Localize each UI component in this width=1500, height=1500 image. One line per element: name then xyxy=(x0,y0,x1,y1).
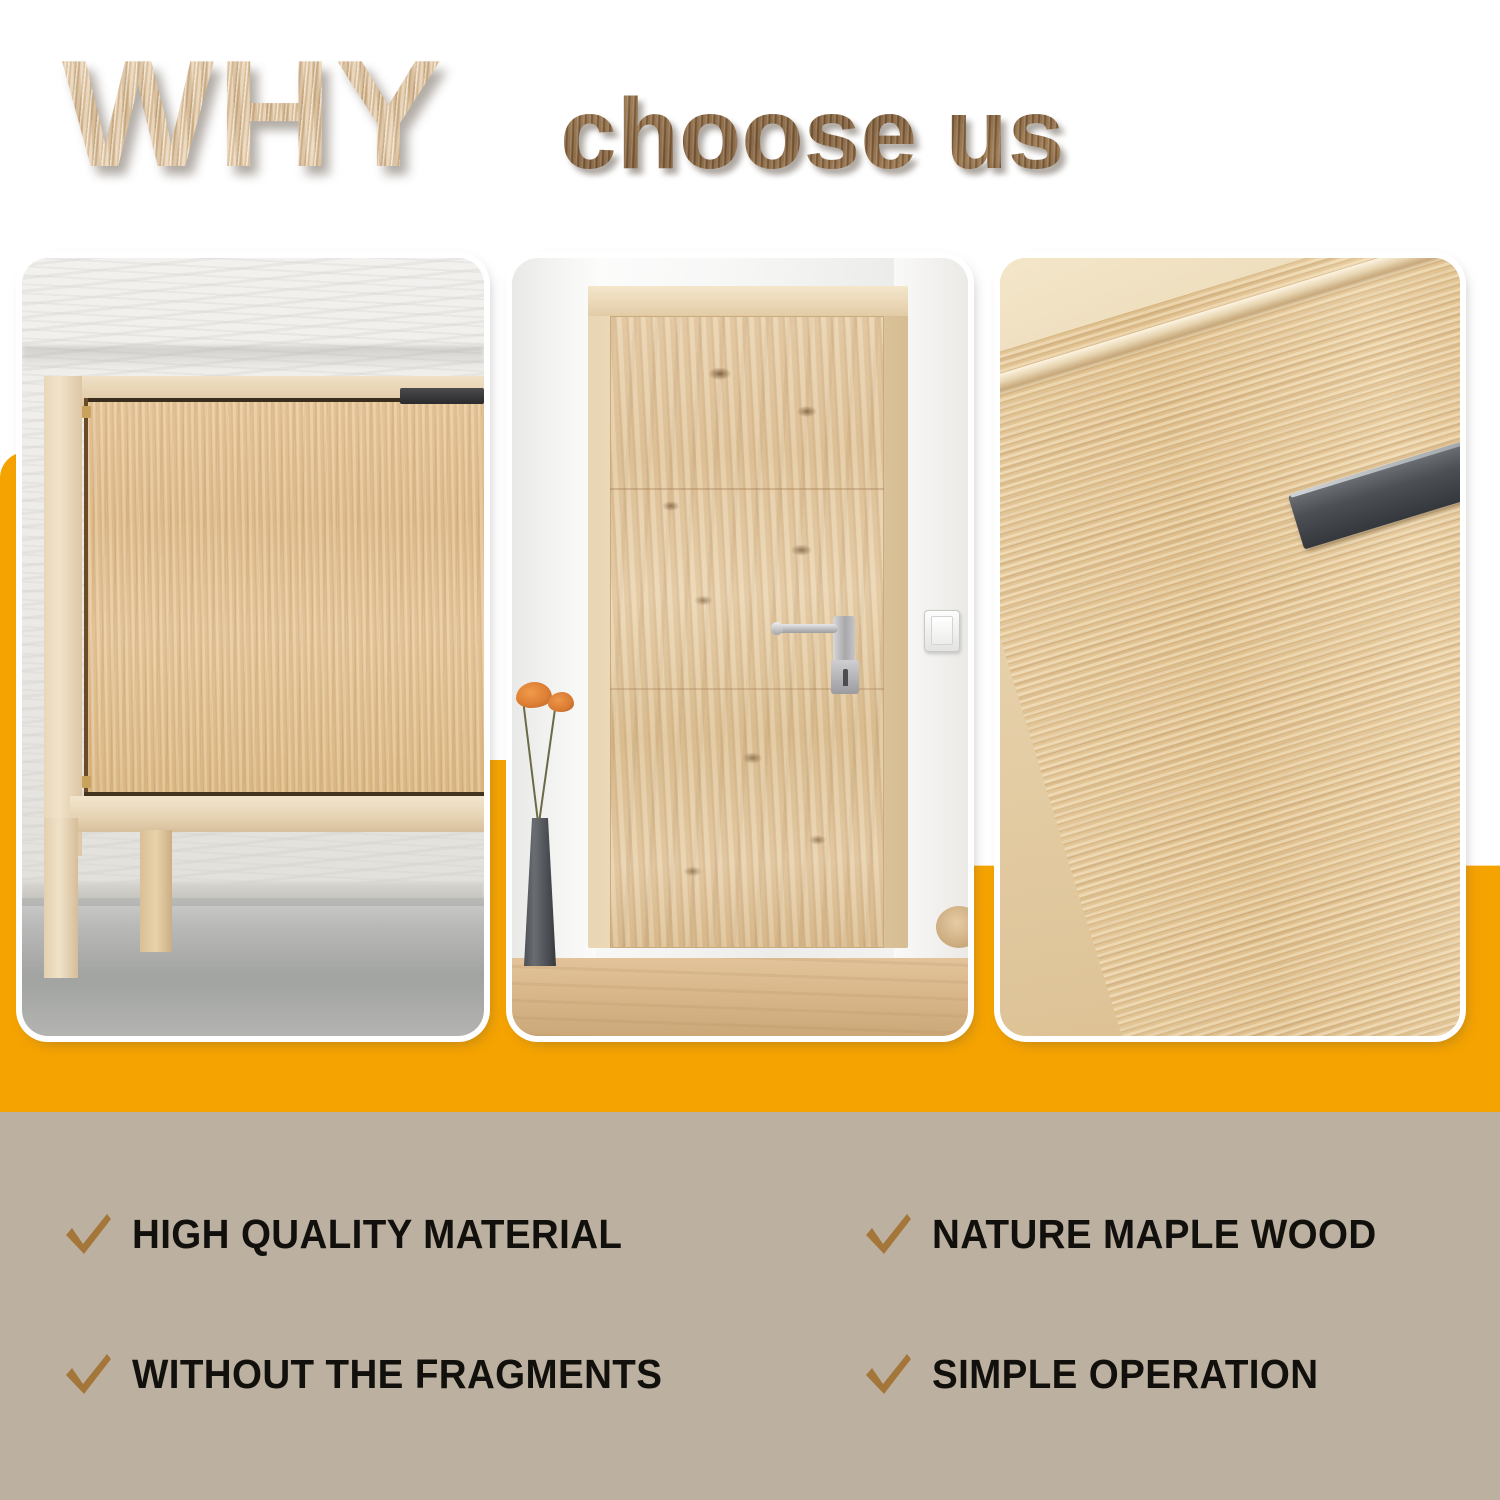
photo-panel-oak-sideboard-cabinet[interactable] xyxy=(22,258,484,1036)
photo-content xyxy=(22,258,484,1036)
photo-gallery xyxy=(0,258,1500,1036)
door-keyhole-slot xyxy=(843,669,848,686)
feature-label: NATURE MAPLE WOOD xyxy=(932,1212,1377,1256)
door-lever-tip xyxy=(771,622,783,635)
feature-item-nature-maple-wood: NATURE MAPLE WOOD xyxy=(862,1208,1405,1260)
why-choose-us-infographic: WHY choose us xyxy=(0,0,1500,1500)
feature-list: HIGH QUALITY MATERIAL NATURE MAPLE WOOD … xyxy=(0,1112,1500,1500)
floor-reflection xyxy=(22,906,484,1036)
feature-item-simple-operation: SIMPLE OPERATION xyxy=(862,1348,1343,1400)
cabinet-left-post xyxy=(44,376,82,856)
wall-left-section xyxy=(512,258,596,968)
page-title-secondary: choose us xyxy=(560,84,1064,184)
cabinet-door-left-edge xyxy=(84,398,88,798)
feature-label: SIMPLE OPERATION xyxy=(932,1352,1318,1396)
page-title-primary: WHY xyxy=(62,38,444,190)
cabinet-rear-leg xyxy=(140,830,172,952)
wall-shadow xyxy=(22,346,484,370)
cabinet-bottom-rail xyxy=(70,796,484,832)
photo-panel-drawer-edge-closeup[interactable] xyxy=(1000,258,1460,1036)
check-icon xyxy=(62,1208,114,1260)
feature-label: WITHOUT THE FRAGMENTS xyxy=(132,1352,662,1396)
feature-band: HIGH QUALITY MATERIAL NATURE MAPLE WOOD … xyxy=(0,1112,1500,1500)
door-lever-handle xyxy=(776,624,838,633)
door-frame-header xyxy=(588,286,908,316)
door-panel-seam-upper xyxy=(610,488,884,490)
check-icon xyxy=(62,1348,114,1400)
poppy-flower-small xyxy=(548,692,574,712)
feature-label: HIGH QUALITY MATERIAL xyxy=(132,1212,622,1256)
feature-item-high-quality-material: HIGH QUALITY MATERIAL xyxy=(62,1208,654,1260)
header: WHY choose us xyxy=(0,0,1500,245)
light-switch-rocker xyxy=(931,616,953,645)
cabinet-hinge-bottom xyxy=(82,776,91,788)
cabinet-door-front xyxy=(84,398,484,798)
check-icon xyxy=(862,1208,914,1260)
photo-content xyxy=(512,258,968,1036)
photo-content xyxy=(1000,258,1460,1036)
photo-panel-oak-interior-door[interactable] xyxy=(512,258,968,1036)
cabinet-hinge-top xyxy=(82,406,91,418)
cabinet-bar-handle xyxy=(400,388,484,404)
poppy-flower-large xyxy=(516,682,552,708)
cabinet-front-leg xyxy=(44,818,78,978)
feature-item-without-the-fragments: WITHOUT THE FRAGMENTS xyxy=(62,1348,696,1400)
check-icon xyxy=(862,1348,914,1400)
wood-floor xyxy=(512,958,968,1036)
